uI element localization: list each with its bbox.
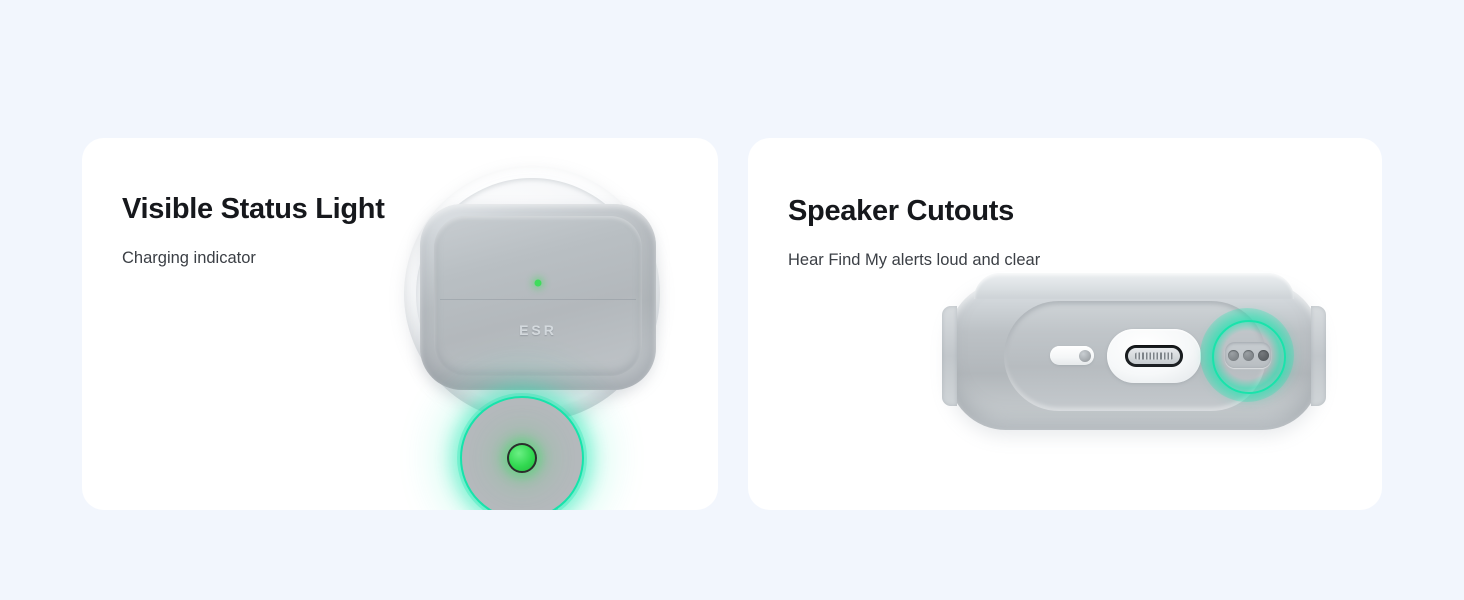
- card-text-block: Visible Status Light Charging indicator: [122, 194, 385, 269]
- earbuds-case: ESR: [420, 204, 656, 390]
- case-edge-top-lip: [974, 273, 1294, 299]
- usb-c-port-inner: [1128, 348, 1180, 364]
- status-led-small: [535, 280, 542, 287]
- card-subtitle: Hear Find My alerts loud and clear: [788, 250, 1040, 271]
- case-edge-illustration: [748, 138, 1382, 510]
- feature-card-visible-status-light[interactable]: ESR Visible Status Light Charging indica…: [82, 138, 718, 510]
- card-title: Speaker Cutouts: [788, 196, 1040, 228]
- feature-card-speaker-cutouts[interactable]: Speaker Cutouts Hear Find My alerts loud…: [748, 138, 1382, 510]
- magnifier-circle: [460, 396, 584, 510]
- case-edge-right-side: [1311, 306, 1326, 406]
- speaker-hole: [1258, 350, 1269, 361]
- status-led-magnified: [507, 443, 537, 473]
- earbuds-case-seam: [440, 299, 636, 300]
- brand-logo: ESR: [434, 322, 642, 338]
- case-edge-left-side: [942, 306, 957, 406]
- case-bottom-edge: [948, 282, 1320, 430]
- usb-c-port: [1125, 345, 1183, 367]
- card-subtitle: Charging indicator: [122, 248, 385, 269]
- status-led-pill-dot: [1079, 350, 1091, 362]
- usb-c-port-pins: [1135, 353, 1173, 360]
- speaker-cutout-group: [1225, 342, 1271, 368]
- earbuds-case-face: ESR: [434, 216, 642, 376]
- card-text-block: Speaker Cutouts Hear Find My alerts loud…: [788, 196, 1040, 271]
- usb-c-port-well: [1107, 329, 1201, 383]
- speaker-hole: [1228, 350, 1239, 361]
- case-edge-recess: [1004, 301, 1266, 411]
- speaker-hole: [1243, 350, 1254, 361]
- page-root: ESR Visible Status Light Charging indica…: [0, 0, 1464, 600]
- card-title: Visible Status Light: [122, 194, 385, 226]
- status-led-pill: [1050, 346, 1094, 365]
